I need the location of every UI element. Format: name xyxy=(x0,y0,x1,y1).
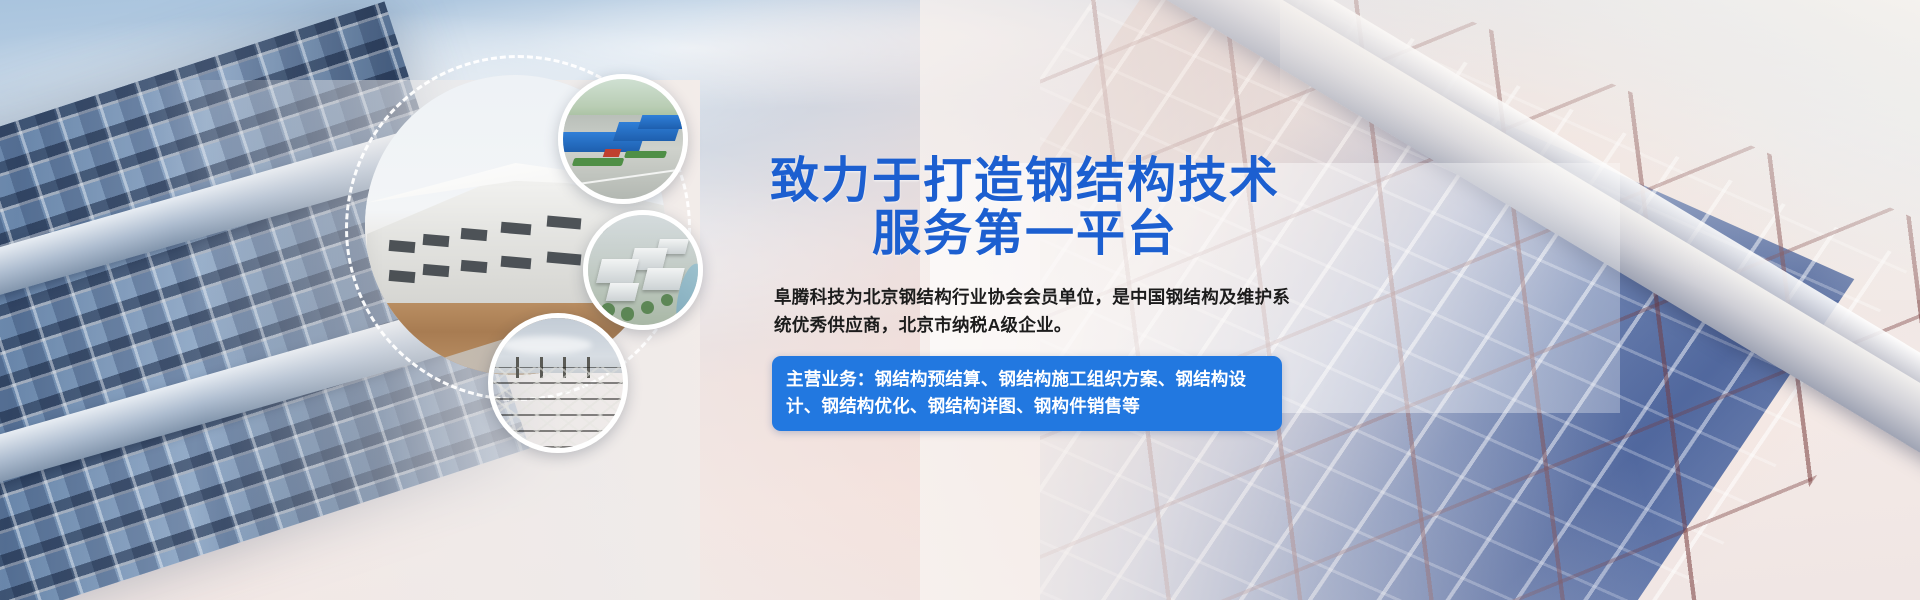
aerial-industrial-campus-photo xyxy=(583,210,703,330)
banner-content: 致力于打造钢结构技术 服务第一平台 阜腾科技为北京钢结构行业协会会员单位，是中国… xyxy=(760,155,1660,431)
services-highlight-box: 主营业务：钢结构预结算、钢结构施工组织方案、钢结构设计、钢结构优化、钢结构详图、… xyxy=(772,356,1282,431)
aerial-blue-roof-factory-photo xyxy=(558,74,688,204)
company-description: 阜腾科技为北京钢结构行业协会会员单位，是中国钢结构及维护系统优秀供应商，北京市纳… xyxy=(774,283,1294,340)
page-title: 致力于打造钢结构技术 服务第一平台 xyxy=(760,155,1290,261)
headline-line-1: 致力于打造钢结构技术 xyxy=(770,153,1280,208)
photo-campus-building xyxy=(596,259,639,283)
headline-line-2: 服务第一平台 xyxy=(760,208,1290,261)
hero-banner: 致力于打造钢结构技术 服务第一平台 阜腾科技为北京钢结构行业协会会员单位，是中国… xyxy=(0,0,1920,600)
photo-campus-building xyxy=(606,283,639,301)
steel-space-frame-truss-photo xyxy=(488,313,628,453)
photo-landscaping xyxy=(571,158,624,166)
photo-blue-roof xyxy=(637,115,688,129)
photo-campus-building xyxy=(642,268,685,290)
photo-tree xyxy=(641,301,654,314)
photo-landscaping xyxy=(624,151,667,158)
photo-tree xyxy=(661,294,673,306)
photo-steel-space-frame xyxy=(493,367,623,448)
photo-collage xyxy=(345,55,765,475)
photo-red-plaza xyxy=(602,149,620,157)
